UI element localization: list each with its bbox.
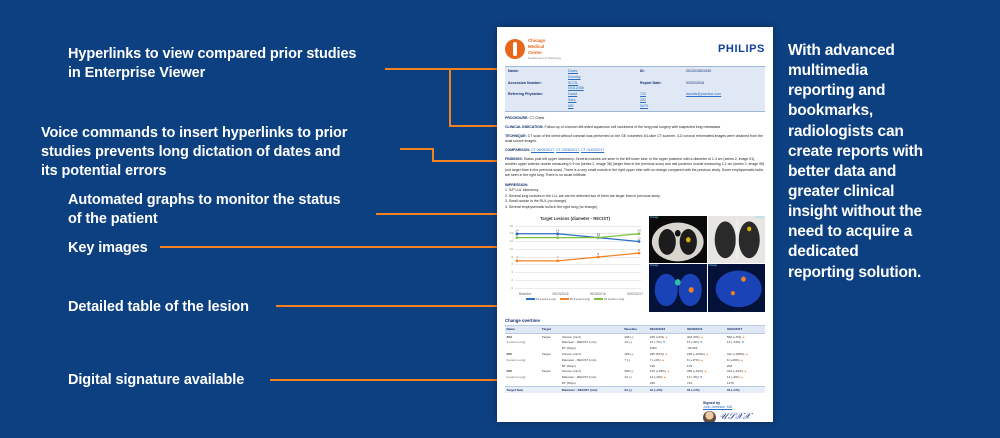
callout-voice-commands: Voice commands to insert hyperlinks to p… [41,124,396,181]
report-date-value: 02/02/2016 [686,81,760,93]
key-image-tag-3: Chicago [650,265,658,267]
impression-item-4: 4. Several emphysematic bulla in the rig… [505,205,765,211]
referring-physician-label: Referring Physician: [508,92,566,109]
chart-legend-item-2: #6 (Lesion Lung) [594,298,624,301]
section-findings-text: Status post left upper lobectomy. Severa… [505,157,764,177]
section-findings-label: FINDINGS: [505,157,523,161]
key-image-axial-color-1[interactable]: Chicago [649,264,707,312]
key-image-axial-color-2[interactable]: Chicago [708,264,766,312]
summary-paragraph: With advanced multimedia reporting and b… [788,41,924,283]
comparison-link-1[interactable]: CT 06/09/2017 [531,148,554,152]
referring-physician-value[interactable]: David Sars, MD [568,92,570,109]
patient-info-band: Name: Davis, Dorothy ID: 20120106/1943 A… [505,66,765,112]
section-comparison: COMPARISON: CT 06/09/2017, CT 23/06/2017… [505,148,765,153]
summary-v1: 34 (+2%) [648,386,685,392]
chart-series-layer: 14141312778913131314 [503,223,643,291]
svg-text:13: 13 [556,232,560,236]
col-name: Name [505,325,540,333]
svg-text:8: 8 [597,251,599,255]
svg-text:7: 7 [516,255,518,259]
hospital-name: Chicago Medical Center Department of Rad… [528,38,561,60]
chart-and-images-row: Target Lesions (diameter - RECIST) 02468… [505,216,765,312]
key-image-tag-4: Chicago [709,265,717,267]
leader-line-hyperlinks-v [449,68,451,126]
hospital-tagline: Department of Radiology [528,56,561,60]
leader-line-voice-h1 [400,148,434,150]
table-summary-row: Target SumDiameter - RECIST (mm)34 (-)34… [505,386,765,392]
section-impression: IMPRESSION: 1. S/P LUL lobectomy 2. Seve… [505,183,765,211]
callout-automated-graphs: Automated graphs to monitor the status o… [68,191,388,229]
hospital-logo: Chicago Medical Center Department of Rad… [505,38,561,60]
key-image-axial-chest[interactable]: Chicago [649,216,707,264]
svg-text:14: 14 [637,228,641,232]
lesion-change-table-wrap: Change overtime Name Target Baseline 06/… [505,318,765,393]
chart-xtick-0: Baseline [519,292,531,296]
leader-line-voice-h2 [432,160,507,162]
chart-x-axis-labels: Baseline 06/23/2016 09/28/2016 02/02/201… [505,291,645,296]
signature-block: Signed by John Jameson, MD 𝒰 𝒮𝒳𝒳 [505,401,765,422]
col-v1: 06/23/2016 [648,325,685,333]
key-image-tag-2: Chicago [756,217,764,219]
chart-plot-area: 024681012141614141312778913131314 [503,223,643,291]
comparison-link-3[interactable]: CT 01/03/2017 [581,148,604,152]
referring-email-value[interactable]: davidis@practice.com [686,92,688,109]
summary-name: Target Sum [505,386,540,392]
chart-legend: #4 (Lesion Lung) #5 (Lesion Lung) #6 (Le… [505,298,645,301]
chart-xtick-3: 02/02/2017 [627,292,643,296]
lesion-table-title: Change overtime [505,318,765,323]
summary-v2: 34 (+1%) [685,386,725,392]
col-baseline: Baseline [623,325,648,333]
chart-title: Target Lesions (diameter - RECIST) [505,216,645,221]
report-date-label: Report Date: [640,81,684,93]
summary-baseline: 34 (-) [623,386,648,392]
col-metric [560,325,623,333]
accession-value[interactable]: SC75-00112458 [568,81,570,93]
section-technique: TECHNIQUE: CT scan of the chest without … [505,134,765,145]
patient-id-label: ID: [640,69,684,81]
section-technique-text: CT scan of the chest without contrast wa… [505,134,763,143]
accession-label: Accession Number: [508,81,566,93]
svg-text:13: 13 [597,232,601,236]
col-v3: 02/02/2017 [725,325,765,333]
signer-name-link[interactable]: John Jameson, MD [703,405,765,409]
infographic-canvas: Hyperlinks to view compared prior studie… [0,0,1000,438]
col-v2: 09/28/2016 [685,325,725,333]
chart-legend-item-1: #5 (Lesion Lung) [560,298,590,301]
lesion-change-table: Name Target Baseline 06/23/2016 09/28/20… [505,325,765,393]
svg-text:7: 7 [557,255,559,259]
target-lesions-chart: Target Lesions (diameter - RECIST) 02468… [505,216,645,312]
svg-text:13: 13 [515,232,519,236]
section-procedure-text: CT Chest [529,116,545,120]
section-clinical-indication: CLINICAL INDICATION: Follow-up of a know… [505,125,765,130]
section-comparison-label: COMPARISON: [505,148,530,152]
lesion-table-header-row: Name Target Baseline 06/23/2016 09/28/20… [505,325,765,333]
chart-legend-item-0: #4 (Lesion Lung) [526,298,556,301]
handwritten-signature: 𝒰 𝒮𝒳𝒳 [719,413,750,422]
patient-id-value: 20120106/1943 [686,69,760,81]
summary-v3: 34 (+1%) [725,386,765,392]
signer-avatar [703,411,716,422]
leader-line-graphs-h [376,213,507,215]
svg-text:9: 9 [638,247,640,251]
leader-line-hyperlinks-h1 [385,68,497,70]
key-images-grid: Chicago Chicago [649,216,765,312]
key-image-tag-1: Chicago [650,217,658,219]
section-clinical-indication-text: Follow-up of a known left-sided squamous… [544,125,721,129]
callout-digital-signature: Digital signature available [68,371,328,390]
document-header: Chicago Medical Center Department of Rad… [505,34,765,64]
chart-xtick-2: 09/28/2016 [590,292,606,296]
section-technique-label: TECHNIQUE: [505,134,527,138]
summary-metric: Diameter - RECIST (mm) [560,386,623,392]
section-procedure: PROCEDURE: CT Chest [505,116,765,121]
caduceus-icon [505,39,525,59]
callout-hyperlinks-prior-studies: Hyperlinks to view compared prior studie… [68,45,388,83]
callout-detailed-table: Detailed table of the lesion [68,298,328,317]
patient-name-label: Name: [508,69,566,81]
radiology-report-document: Chicago Medical Center Department of Rad… [497,27,773,422]
section-findings: FINDINGS: Status post left upper lobecto… [505,157,765,179]
col-target: Target [540,325,560,333]
referring-phone-value[interactable]: 723 202 5479 [640,92,642,109]
patient-name-value[interactable]: Davis, Dorothy [568,69,570,81]
svg-text:12: 12 [637,236,641,240]
section-clinical-indication-label: CLINICAL INDICATION: [505,125,544,129]
chart-xtick-1: 06/23/2016 [553,292,569,296]
section-impression-label: IMPRESSION: [505,183,528,187]
philips-wordmark: PHILIPS [718,43,765,55]
comparison-link-2[interactable]: CT 23/06/2017 [556,148,579,152]
section-procedure-label: PROCEDURE: [505,116,529,120]
callout-key-images: Key images [68,239,268,258]
key-image-coronal-chest[interactable]: Chicago [708,216,766,264]
